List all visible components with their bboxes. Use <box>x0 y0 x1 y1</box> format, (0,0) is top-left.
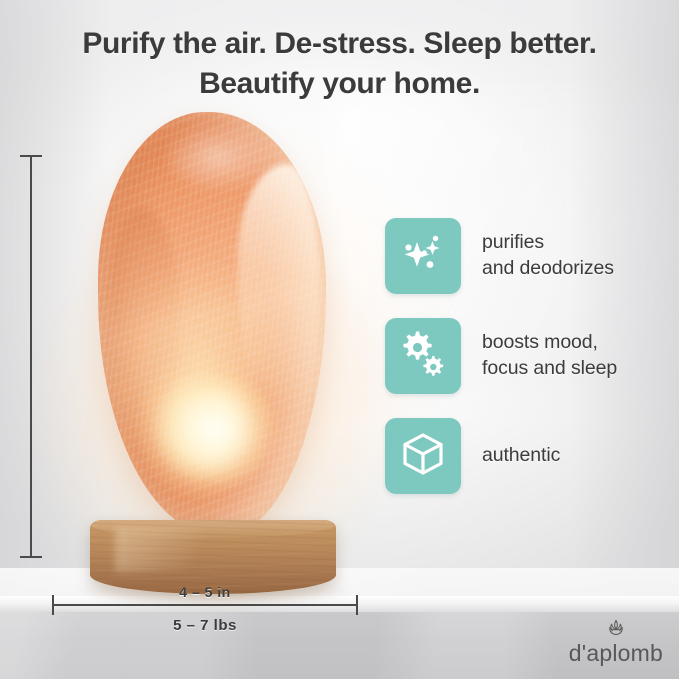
headline: Purify the air. De-stress. Sleep better.… <box>0 24 679 103</box>
feature-icon-tile <box>385 218 461 294</box>
feature-item: authentic <box>385 418 617 494</box>
feature-label-line-1: boosts mood, <box>482 330 617 356</box>
salt-lamp-product-image <box>62 108 362 588</box>
brand-name: d'aplomb <box>569 642 663 665</box>
feature-item: purifies and deodorizes <box>385 218 617 294</box>
brand-logo: d'aplomb <box>569 619 663 665</box>
width-measure-label: 4 – 5 in <box>52 584 358 600</box>
feature-label: purifies and deodorizes <box>482 230 614 281</box>
feature-label-line-1: authentic <box>482 443 560 469</box>
gears-icon <box>398 329 448 384</box>
lotus-icon <box>569 619 663 641</box>
cube-icon <box>400 431 446 482</box>
feature-label-line-1: purifies <box>482 230 614 256</box>
feature-label: authentic <box>482 443 560 469</box>
feature-list: purifies and deodorizes <box>385 218 617 518</box>
height-measure-cap-top <box>20 155 42 157</box>
width-measure-cap-right <box>356 595 358 615</box>
feature-label-line-2: focus and sleep <box>482 356 617 382</box>
feature-icon-tile <box>385 318 461 394</box>
feature-item: boosts mood, focus and sleep <box>385 318 617 394</box>
product-infographic: Purify the air. De-stress. Sleep better.… <box>0 0 679 679</box>
width-measure-line <box>52 604 358 606</box>
feature-label-line-2: and deodorizes <box>482 256 614 282</box>
headline-line-2: Beautify your home. <box>0 64 679 104</box>
salt-rock-right-highlight <box>238 164 320 464</box>
headline-line-1: Purify the air. De-stress. Sleep better. <box>0 24 679 64</box>
salt-rock-top-highlight <box>162 122 272 192</box>
width-measure-cap-left <box>52 595 54 615</box>
feature-icon-tile <box>385 418 461 494</box>
weight-label: 5 – 7 lbs <box>52 617 358 634</box>
feature-label: boosts mood, focus and sleep <box>482 330 617 381</box>
sparkles-icon <box>399 230 447 283</box>
height-measure-line <box>30 155 32 558</box>
wooden-base-top-rim <box>90 520 336 538</box>
salt-rock-left-shading <box>108 208 178 458</box>
salt-rock-inner-glow <box>156 376 276 484</box>
height-measure-cap-bottom <box>20 556 42 558</box>
wooden-base <box>90 520 336 594</box>
